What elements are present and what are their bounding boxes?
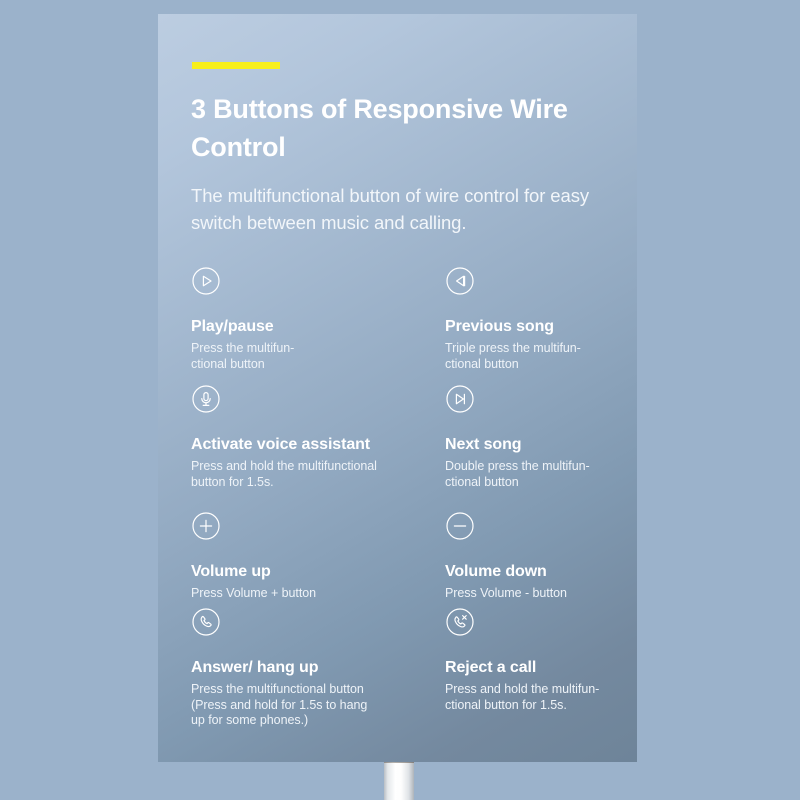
feature-description: Press Volume + button (191, 586, 406, 602)
feature-item-volume-down: Volume down Press Volume - button (445, 511, 637, 602)
feature-description: Press the multifun- ctional button (191, 341, 406, 372)
feature-title: Activate voice assistant (191, 436, 406, 454)
phone-answer-circle-icon (191, 607, 221, 637)
minus-circle-icon (445, 511, 475, 541)
feature-title: Reject a call (445, 659, 637, 677)
feature-item-volume-up: Volume up Press Volume + button (191, 511, 406, 602)
microphone-circle-icon (191, 384, 221, 414)
feature-title: Volume up (191, 563, 406, 581)
feature-description: Press and hold the multifun- ctional but… (445, 682, 637, 713)
next-track-circle-icon (445, 384, 475, 414)
feature-item-previous-song: Previous song Triple press the multifun-… (445, 266, 637, 372)
previous-track-circle-icon (445, 266, 475, 296)
yellow-accent-bar (192, 62, 280, 69)
product-feature-card: 3 Buttons of Responsive Wire Control The… (158, 14, 637, 762)
feature-title: Answer/ hang up (191, 659, 406, 677)
feature-title: Play/pause (191, 318, 406, 336)
feature-title: Next song (445, 436, 637, 454)
phone-reject-circle-icon (445, 607, 475, 637)
feature-item-answer-hang-up: Answer/ hang up Press the multifunctiona… (191, 607, 406, 729)
feature-title: Previous song (445, 318, 637, 336)
feature-description: Press Volume - button (445, 586, 637, 602)
feature-item-next-song: Next song Double press the multifun- cti… (445, 384, 637, 490)
page-title: 3 Buttons of Responsive Wire Control (191, 90, 611, 166)
feature-item-reject-call: Reject a call Press and hold the multifu… (445, 607, 637, 713)
feature-item-voice-assistant: Activate voice assistant Press and hold … (191, 384, 406, 490)
feature-description: Double press the multifun- ctional butto… (445, 459, 637, 490)
feature-description: Press and hold the multifunctional butto… (191, 459, 406, 490)
feature-description: Press the multifunctional button (Press … (191, 682, 406, 729)
page-subtitle: The multifunctional button of wire contr… (191, 182, 621, 236)
feature-item-play-pause: Play/pause Press the multifun- ctional b… (191, 266, 406, 372)
plus-circle-icon (191, 511, 221, 541)
feature-title: Volume down (445, 563, 637, 581)
play-circle-icon (191, 266, 221, 296)
feature-description: Triple press the multifun- ctional butto… (445, 341, 637, 372)
